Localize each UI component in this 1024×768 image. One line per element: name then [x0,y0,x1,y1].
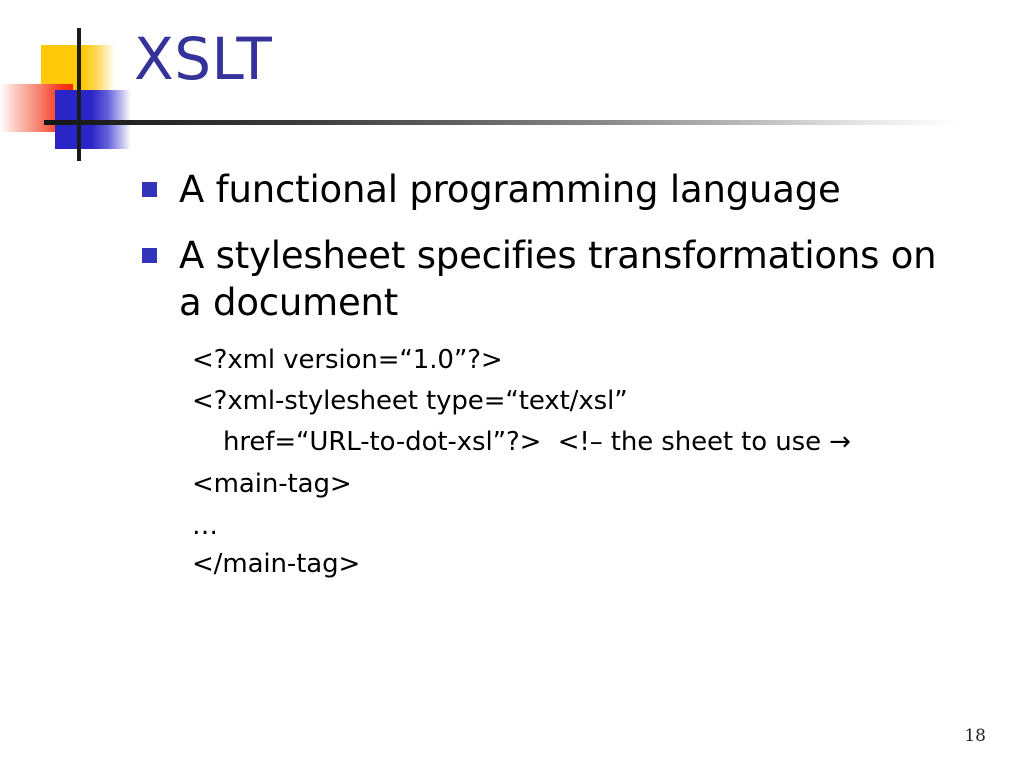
bullet-square-icon [142,182,157,197]
bullet-item-label: A stylesheet specifies transformations o… [179,232,962,326]
slide-page-number: 18 [964,726,986,746]
bullet-square-icon [142,248,157,263]
bullet-item: A stylesheet specifies transformations o… [142,232,962,326]
code-line: </main-tag> [192,549,360,579]
code-line: <?xml version=“1.0”?> [192,345,503,375]
code-line: <main-tag> [192,469,352,499]
slide-body: A functional programming language A styl… [0,0,1024,768]
code-line: href=“URL-to-dot-xsl”?> <!– the sheet to… [223,427,851,457]
bullet-item-label: A functional programming language [179,166,841,213]
presentation-slide: XSLT A functional programming language A… [0,0,1024,768]
bullet-item: A functional programming language [142,166,972,213]
code-line: … [192,511,218,541]
code-line: <?xml-stylesheet type=“text/xsl” [192,386,628,416]
